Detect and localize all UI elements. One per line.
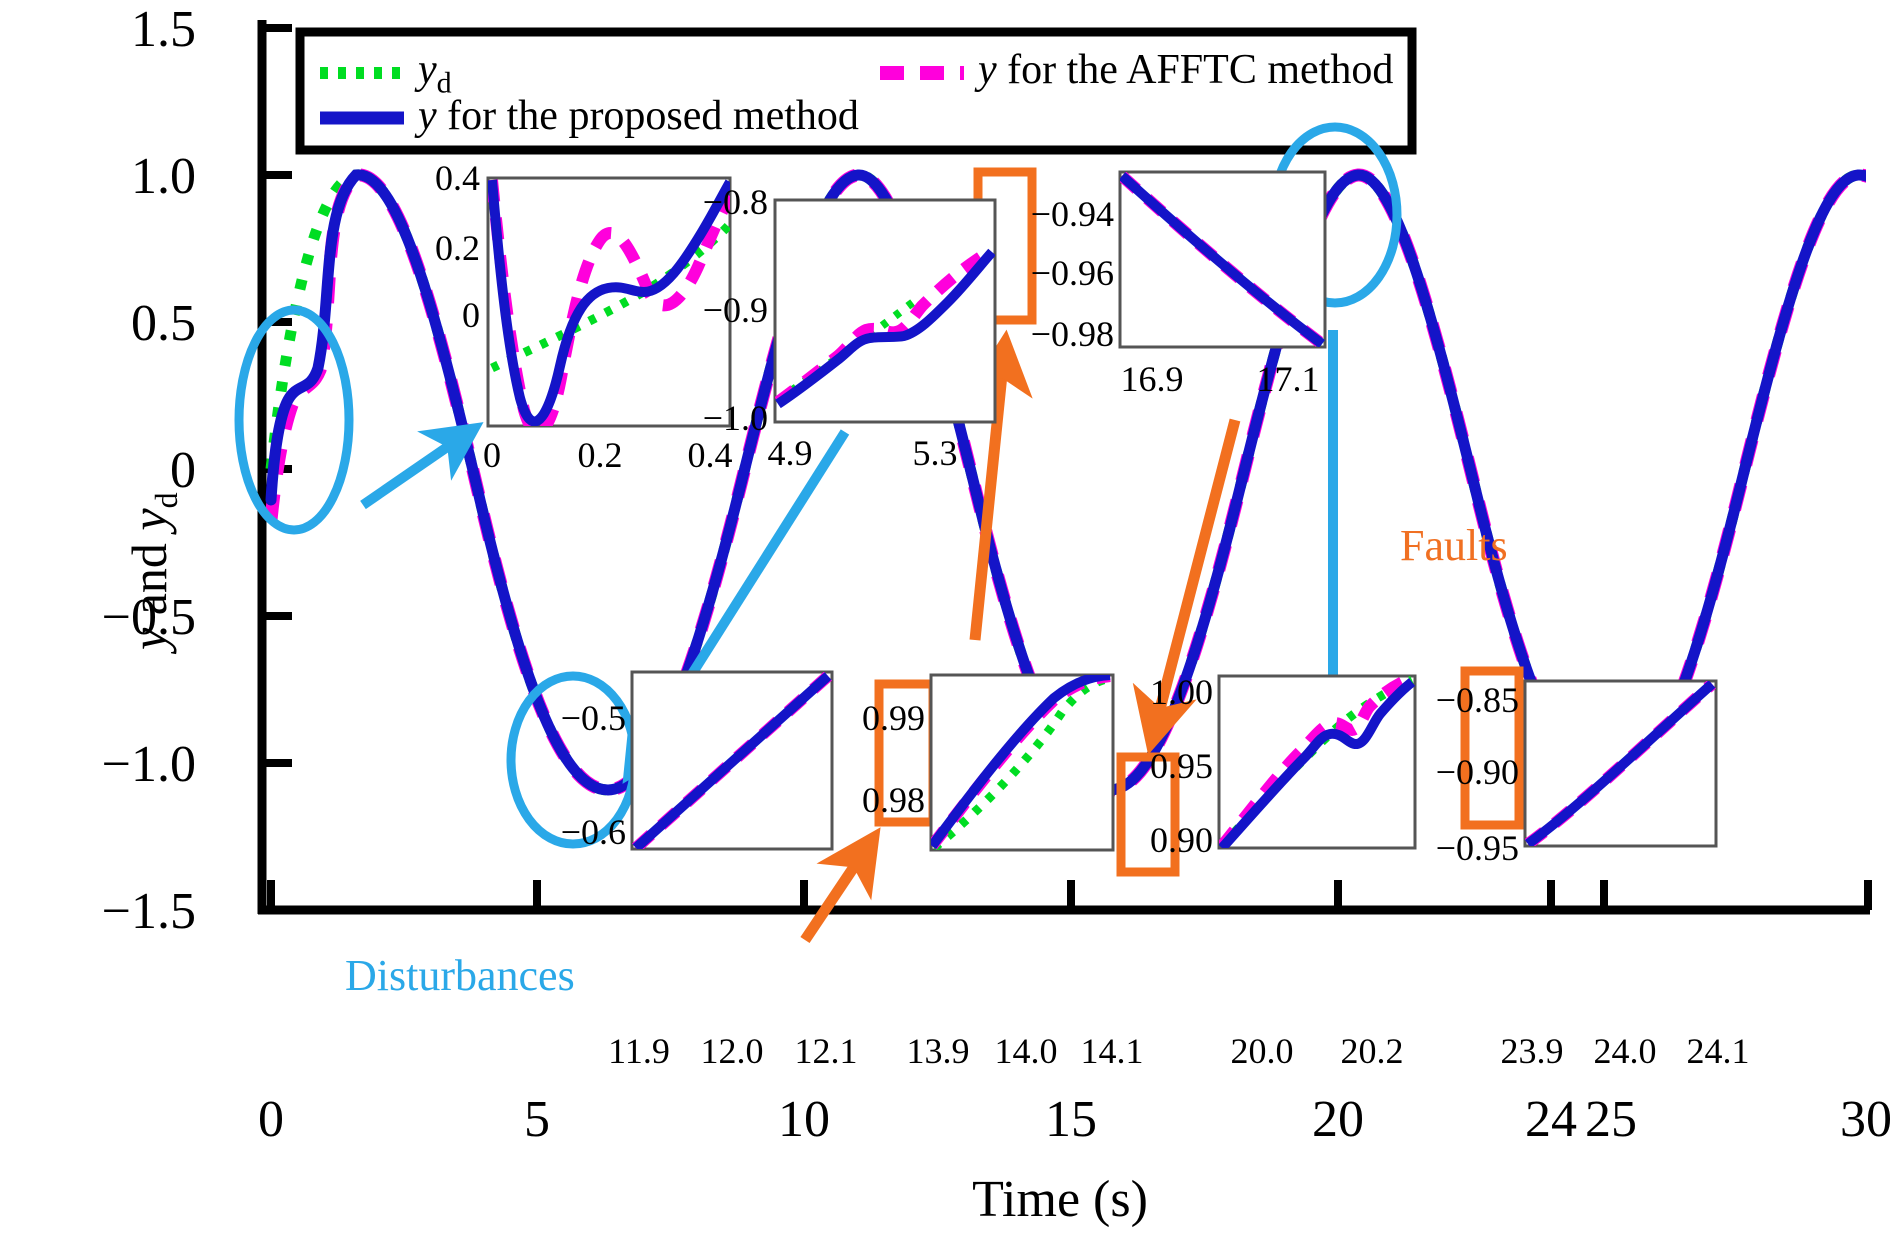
inset-119-xtick-2: 12.1	[795, 1030, 858, 1072]
legend-proposed-text: for the proposed method	[437, 93, 859, 139]
inset-trough2-ytick-2: −0.98	[1031, 313, 1114, 355]
inset-119-ytick-1: −0.6	[561, 811, 626, 853]
y-axis-title-and: and	[121, 543, 177, 615]
inset-239	[1525, 681, 1716, 846]
x-tick-label-25: 25	[1585, 1090, 1637, 1149]
inset-139-xtick-1: 14.0	[995, 1030, 1058, 1072]
legend-label-proposed: y for the proposed method	[418, 92, 859, 140]
x-axis-title: Time (s)	[972, 1170, 1148, 1229]
x-tick-label-5: 5	[524, 1090, 550, 1149]
inset-139-xtick-0: 13.9	[907, 1030, 970, 1072]
x-tick-label-30: 30	[1840, 1090, 1890, 1149]
inset-119	[632, 672, 832, 849]
annotation-disturbances: Disturbances	[345, 950, 575, 1001]
inset-200-ytick-2: 0.90	[1150, 819, 1213, 861]
y-axis-title-d: d	[148, 492, 184, 508]
legend-yd-symbol: y	[418, 47, 437, 93]
inset-139-ytick-0: 0.99	[862, 697, 925, 739]
inset-trough1	[775, 200, 995, 422]
inset-trough1-ytick-2: −1.0	[703, 397, 768, 439]
legend-afftc-text: for the AFFTC method	[997, 47, 1394, 93]
inset-239-xtick-2: 24.1	[1687, 1030, 1750, 1072]
y-axis-title-y2: y	[121, 508, 177, 530]
inset-start-xtick-1: 0.2	[578, 434, 623, 476]
inset-119-xtick-1: 12.0	[701, 1030, 764, 1072]
inset-139-xtick-2: 14.1	[1081, 1030, 1144, 1072]
inset-trough2-xtick-0: 16.9	[1121, 358, 1184, 400]
inset-239-xtick-0: 23.9	[1501, 1030, 1564, 1072]
inset-139	[931, 675, 1113, 850]
legend-label-afftc: y for the AFFTC method	[978, 46, 1393, 94]
inset-200	[1219, 676, 1415, 848]
arrow-start-to-inset	[363, 430, 472, 505]
inset-start	[488, 178, 730, 432]
inset-start-xtick-0: 0	[483, 434, 501, 476]
inset-119-ytick-0: −0.5	[561, 697, 626, 739]
x-tick-label-15: 15	[1045, 1090, 1097, 1149]
inset-trough2-ytick-1: −0.96	[1031, 252, 1114, 294]
legend-afftc-symbol: y	[978, 47, 997, 93]
inset-200-ytick-1: 0.95	[1150, 745, 1213, 787]
annotation-faults: Faults	[1400, 520, 1508, 571]
inset-trough2-xtick-1: 17.1	[1257, 358, 1320, 400]
inset-trough1-ytick-0: −0.8	[703, 181, 768, 223]
y-axis-title: y and yd	[120, 492, 185, 650]
inset-trough1-ytick-1: −0.9	[703, 289, 768, 331]
fault-arrow-to-box12	[805, 840, 872, 940]
inset-239-xtick-1: 24.0	[1594, 1030, 1657, 1072]
x-tick-label-20: 20	[1312, 1090, 1364, 1149]
x-tick-label-24: 24	[1525, 1090, 1577, 1149]
inset-239-ytick-2: −0.95	[1436, 827, 1519, 869]
inset-trough2-ytick-0: −0.94	[1031, 193, 1114, 235]
inset-start-ytick-2: 0	[462, 294, 480, 336]
inset-start-ytick-0: 0.4	[435, 157, 480, 199]
inset-200-xtick-1: 20.2	[1341, 1030, 1404, 1072]
y-axis-title-y1: y	[121, 628, 177, 650]
inset-119-xtick-0: 11.9	[608, 1030, 670, 1072]
x-tick-label-10: 10	[778, 1090, 830, 1149]
x-tick-label-0: 0	[258, 1090, 284, 1149]
inset-239-ytick-1: −0.90	[1436, 751, 1519, 793]
inset-start-xtick-2: 0.4	[688, 434, 733, 476]
legend-proposed-symbol: y	[418, 93, 437, 139]
inset-trough1-xtick-0: 4.9	[768, 432, 813, 474]
inset-200-ytick-0: 1.00	[1150, 671, 1213, 713]
inset-200-xtick-0: 20.0	[1231, 1030, 1294, 1072]
inset-139-ytick-1: 0.98	[862, 779, 925, 821]
inset-trough1-xtick-1: 5.3	[913, 432, 958, 474]
inset-trough2	[1120, 172, 1325, 347]
inset-239-ytick-0: −0.85	[1436, 679, 1519, 721]
inset-start-ytick-1: 0.2	[435, 227, 480, 269]
